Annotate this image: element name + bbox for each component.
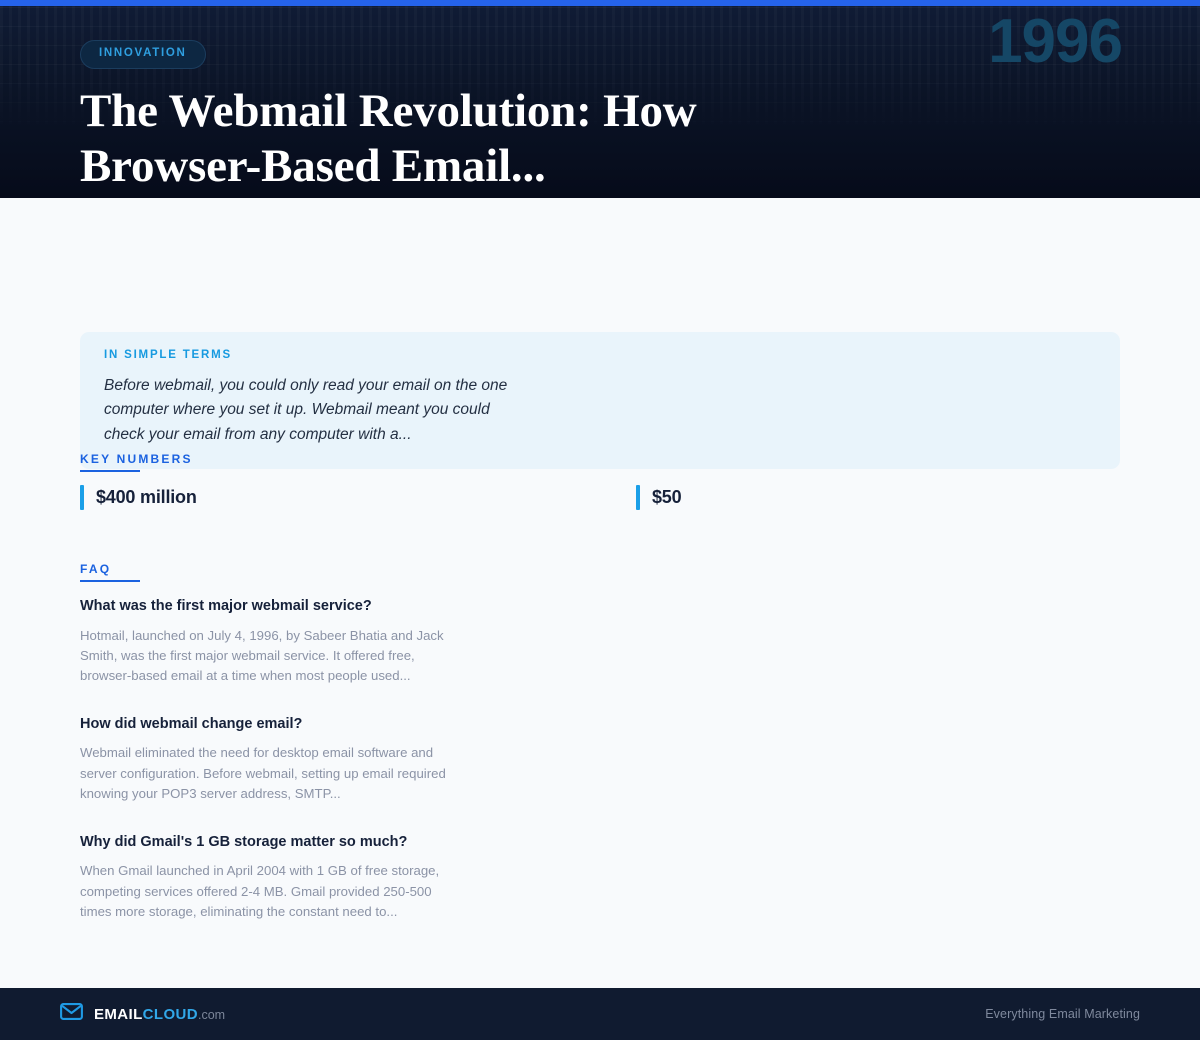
faq-answer: Hotmail, launched on July 4, 1996, by Sa… xyxy=(80,626,460,687)
in-simple-terms-body: Before webmail, you could only read your… xyxy=(104,374,524,448)
key-number-value: $400 million xyxy=(96,487,197,508)
envelope-icon xyxy=(60,1003,83,1025)
accent-bar xyxy=(80,485,84,510)
faq-item[interactable]: Why did Gmail's 1 GB storage matter so m… xyxy=(80,833,460,923)
brand-wordmark: EMAILCLOUD.com xyxy=(94,1007,225,1022)
header-year: 1996 xyxy=(988,8,1122,76)
footer-tagline: Everything Email Marketing xyxy=(985,1007,1140,1021)
brand-primary: EMAIL xyxy=(94,1006,143,1023)
faq-answer: Webmail eliminated the need for desktop … xyxy=(80,743,460,804)
in-simple-terms-card: IN SIMPLE TERMS Before webmail, you coul… xyxy=(80,332,1120,469)
faq-question: What was the first major webmail service… xyxy=(80,597,460,617)
faq-item[interactable]: How did webmail change email? Webmail el… xyxy=(80,715,460,805)
main-content: IN SIMPLE TERMS Before webmail, you coul… xyxy=(0,198,1200,988)
top-accent-bar xyxy=(0,0,1200,6)
key-numbers-heading: KEY NUMBERS xyxy=(80,453,193,472)
brand-logo[interactable]: EMAILCLOUD.com xyxy=(60,1003,225,1025)
key-number-item: $400 million xyxy=(80,485,636,510)
page-footer: EMAILCLOUD.com Everything Email Marketin… xyxy=(0,988,1200,1040)
key-numbers-list: $400 million $50 xyxy=(80,485,1120,510)
page-header: 1996 INNOVATION The Webmail Revolution: … xyxy=(0,0,1200,198)
category-badge[interactable]: INNOVATION xyxy=(80,40,206,69)
brand-secondary: CLOUD xyxy=(143,1006,198,1023)
in-simple-terms-label: IN SIMPLE TERMS xyxy=(104,350,1096,362)
faq-item[interactable]: What was the first major webmail service… xyxy=(80,597,460,687)
faq-question: Why did Gmail's 1 GB storage matter so m… xyxy=(80,833,460,853)
key-number-value: $50 xyxy=(652,487,681,508)
faq-answer: When Gmail launched in April 2004 with 1… xyxy=(80,861,460,922)
faq-question: How did webmail change email? xyxy=(80,715,460,735)
key-number-item: $50 xyxy=(636,485,1192,510)
accent-bar xyxy=(636,485,640,510)
header-content: INNOVATION The Webmail Revolution: How B… xyxy=(80,40,940,195)
brand-tld: .com xyxy=(198,1008,225,1022)
faq-heading: FAQ xyxy=(80,563,111,582)
page-title: The Webmail Revolution: How Browser-Base… xyxy=(80,84,870,196)
faq-list: What was the first major webmail service… xyxy=(80,597,460,923)
